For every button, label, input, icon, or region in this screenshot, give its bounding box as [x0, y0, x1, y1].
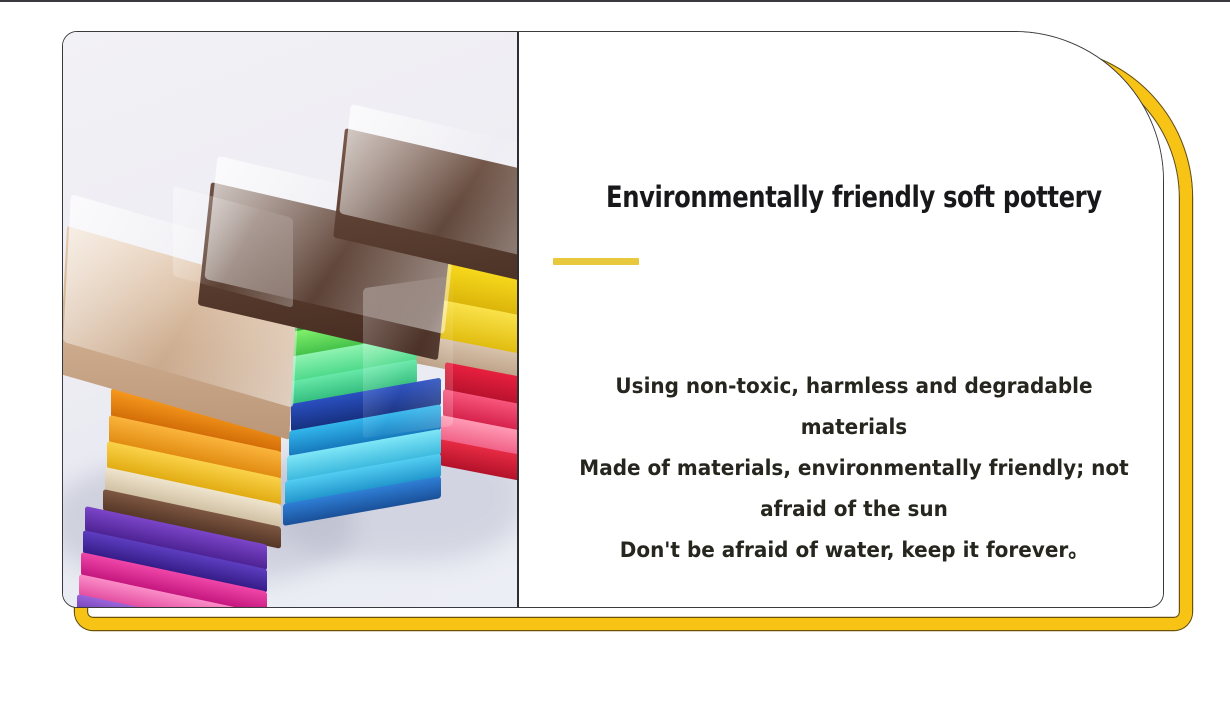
product-feature-card: Environmentally friendly soft pottery Us…: [62, 31, 1164, 608]
feature-list: Using non-toxic, harmless and degradable…: [561, 366, 1147, 571]
page-title: Environmentally friendly soft pottery: [606, 180, 1102, 214]
product-photo: [63, 32, 519, 607]
feature-line-2: Made of materials, environmentally frien…: [561, 448, 1147, 530]
accent-dash: [553, 258, 639, 265]
feature-line-3: Don't be afraid of water, keep it foreve…: [561, 530, 1147, 571]
top-hairline: [0, 0, 1230, 2]
feature-line-1: Using non-toxic, harmless and degradable…: [561, 366, 1147, 448]
product-photo-canvas: [63, 32, 517, 607]
product-text-pane: Environmentally friendly soft pottery Us…: [519, 32, 1163, 607]
